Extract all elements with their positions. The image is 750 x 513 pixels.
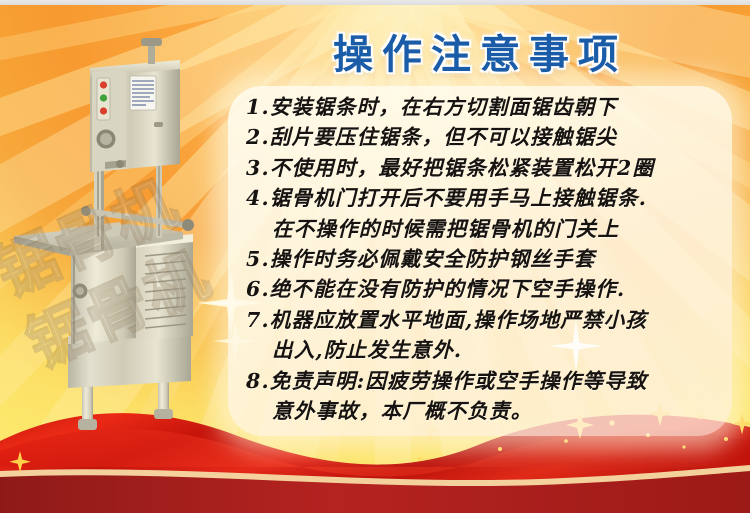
notice-item-continuation: 在不操作的时候需把锯骨机的门关上 bbox=[246, 214, 724, 244]
notice-item: 8.免责声明:因疲劳操作或空手操作等导致 bbox=[246, 366, 724, 396]
notice-item: 7.机器应放置水平地面,操作场地严禁小孩 bbox=[246, 305, 724, 335]
poster-canvas: 锯骨机 锯骨机 bbox=[0, 0, 750, 513]
red-emergency-button bbox=[100, 107, 107, 114]
notice-list: 1.安装锯条时，在右方切割面锯齿朝下 2.刮片要压住锯条，但不可以接触锯尖 3.… bbox=[246, 92, 724, 430]
machine-head bbox=[90, 38, 180, 172]
green-start-button bbox=[100, 94, 107, 101]
notice-item: 5.操作时务必佩戴安全防护钢丝手套 bbox=[246, 244, 724, 274]
product-photo-bone-saw-machine bbox=[8, 36, 223, 436]
notice-item-continuation: 出入,防止发生意外. bbox=[246, 335, 724, 365]
notice-item: 6.绝不能在没有防护的情况下空手操作. bbox=[246, 274, 724, 304]
page-title: 操作注意事项 bbox=[228, 22, 732, 80]
notice-item-continuation: 意外事故，本厂概不负责。 bbox=[246, 396, 724, 426]
notice-item: 3.不使用时，最好把锯条松紧装置松开2圈 bbox=[246, 153, 724, 183]
notice-item: 4.锯骨机门打开后不要用手马上接触锯条. bbox=[246, 183, 724, 213]
top-border-strip bbox=[0, 0, 750, 5]
red-stop-button bbox=[100, 81, 107, 88]
notice-item: 2.刮片要压住锯条，但不可以接触锯尖 bbox=[246, 122, 724, 152]
notice-item: 1.安装锯条时，在右方切割面锯齿朝下 bbox=[246, 92, 724, 122]
